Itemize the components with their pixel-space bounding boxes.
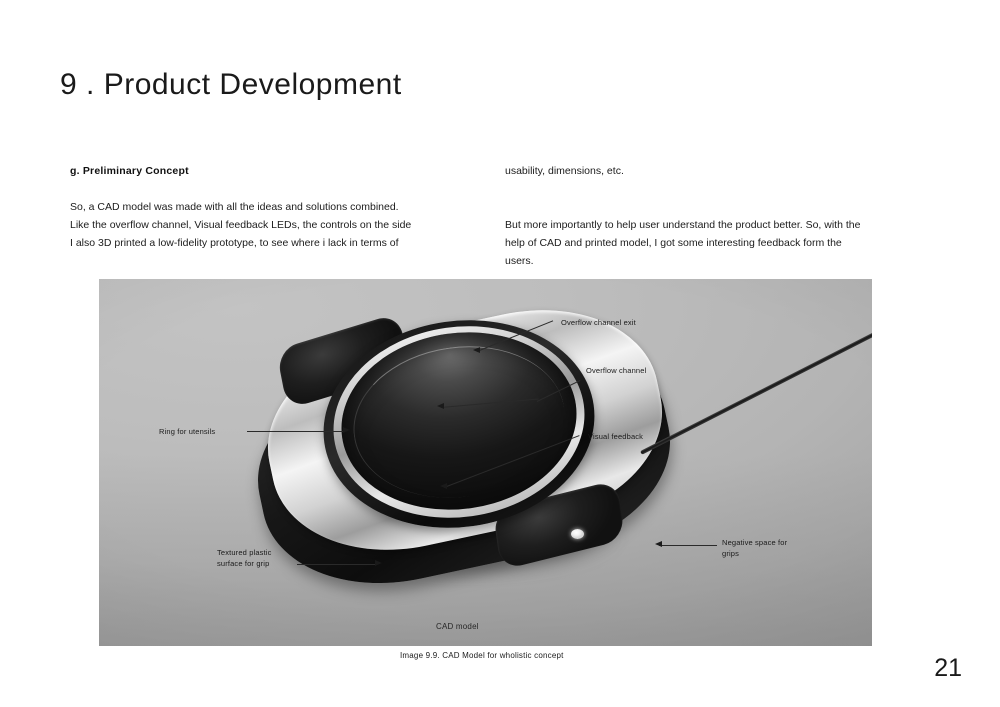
left-text-column: g. Preliminary Concept So, a CAD model w… <box>70 162 490 252</box>
page-title: 9 . Product Development <box>60 68 402 102</box>
right-body-paragraph: But more importantly to help user unders… <box>505 216 935 270</box>
leader-line-ring-for-utensils <box>247 431 343 432</box>
left-body-line-2: Like the overflow channel, Visual feedba… <box>70 216 490 234</box>
annotation-label-visual-feedback: Visual feedback <box>588 431 643 442</box>
page-number: 21 <box>934 654 962 683</box>
arrow-icon-overflow-channel <box>437 403 444 409</box>
left-body-paragraph: So, a CAD model was made with all the id… <box>70 198 490 252</box>
power-cable <box>640 301 872 454</box>
right-body-line-1: But more importantly to help user unders… <box>505 216 935 234</box>
arrow-icon-visual-feedback <box>440 483 447 489</box>
arrow-icon-negative-space-grips <box>655 541 662 547</box>
annotation-label-textured-plastic-grip: Textured plastic surface for grip <box>217 547 272 569</box>
led-indicator-icon <box>571 529 584 539</box>
left-body-line-1: So, a CAD model was made with all the id… <box>70 198 490 216</box>
right-body-line-2: help of CAD and printed model, I got som… <box>505 234 935 252</box>
annotation-label-overflow-channel-exit: Overflow channel exit <box>561 317 636 328</box>
arrow-icon-textured-plastic-grip <box>375 560 382 566</box>
leader-line-negative-space-grips <box>659 545 717 546</box>
right-text-column: usability, dimensions, etc. But more imp… <box>505 162 935 270</box>
column-spacer <box>505 180 935 198</box>
right-first-line-paragraph: usability, dimensions, etc. <box>505 162 935 180</box>
section-subheading: g. Preliminary Concept <box>70 162 490 180</box>
right-body-line-0: usability, dimensions, etc. <box>505 162 935 180</box>
leader-line-textured-plastic-grip <box>297 564 375 565</box>
arrow-icon-overflow-channel-exit <box>473 347 480 353</box>
cad-render-figure: Overflow channel exit Overflow channel V… <box>99 279 872 646</box>
annotation-label-overflow-channel: Overflow channel <box>586 365 646 376</box>
left-body-line-3: I also 3D printed a low-fidelity prototy… <box>70 234 490 252</box>
figure-inline-label: CAD model <box>436 622 479 631</box>
column-spacer-2 <box>505 198 935 216</box>
cad-product-render <box>249 303 679 593</box>
annotation-label-negative-space-grips: Negative space for grips <box>722 537 787 559</box>
annotation-label-ring-for-utensils: Ring for utensils <box>159 426 215 437</box>
arrow-icon-ring-for-utensils <box>343 427 350 433</box>
document-page: 9 . Product Development g. Preliminary C… <box>0 0 1000 707</box>
right-body-line-3: users. <box>505 252 935 270</box>
figure-caption: Image 9.9. CAD Model for wholistic conce… <box>400 651 564 660</box>
